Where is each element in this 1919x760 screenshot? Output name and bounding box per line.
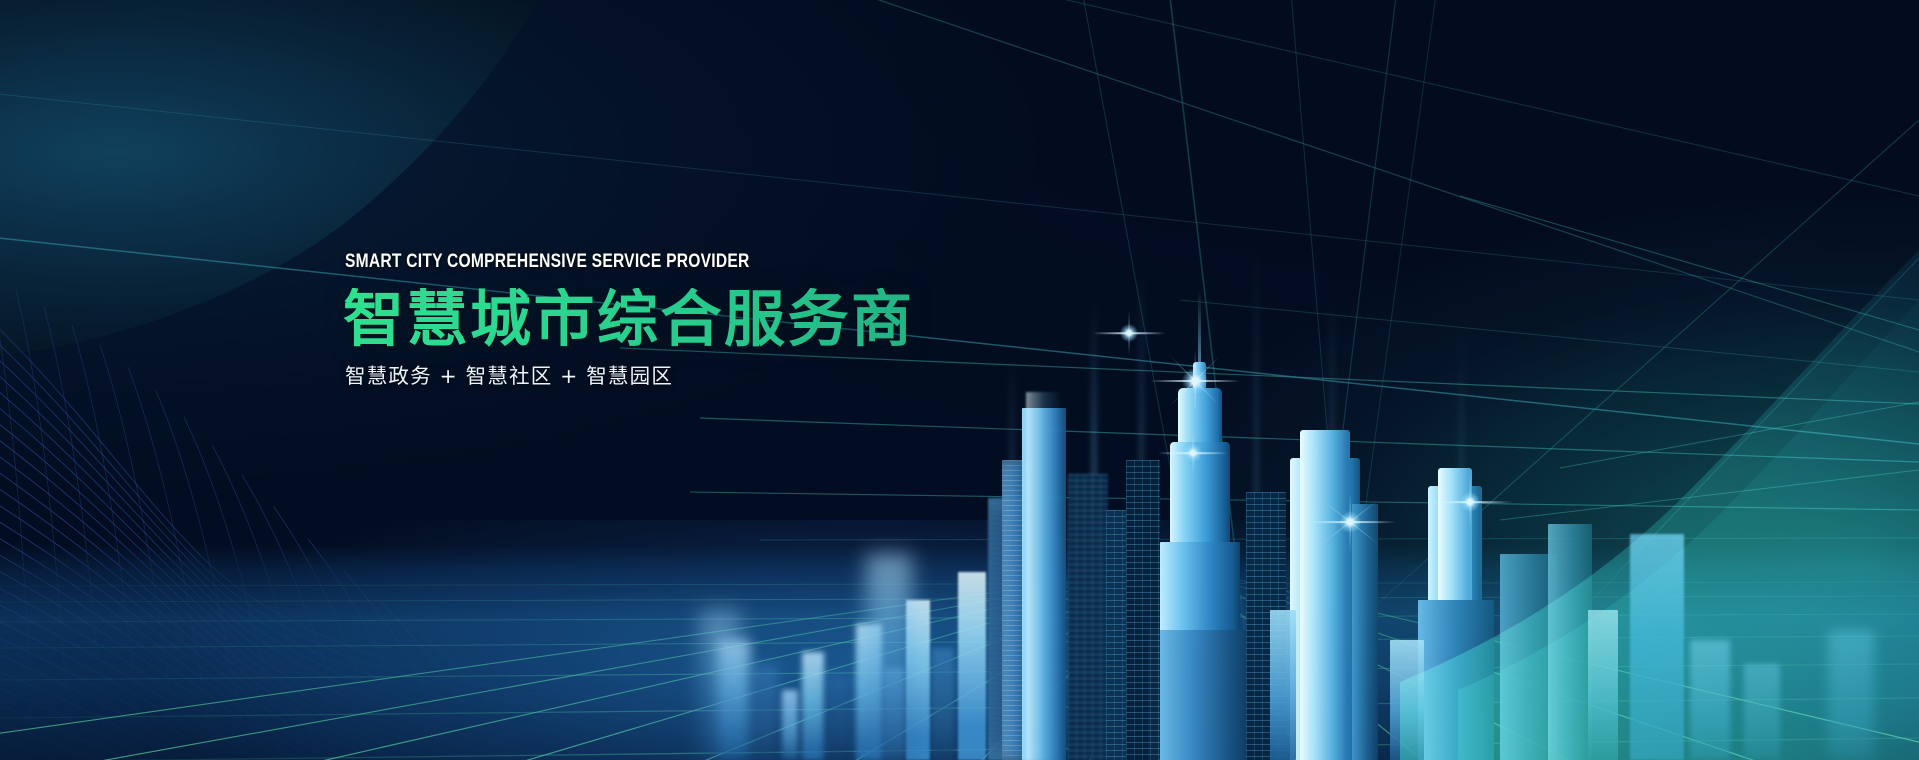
building-foreground-blur [866, 554, 912, 760]
building-foreground-blur [700, 610, 740, 760]
hero-copy: SMART CITY COMPREHENSIVE SERVICE PROVIDE… [343, 252, 1163, 387]
building-stepped-upper [1300, 430, 1350, 760]
building-right-block [1828, 630, 1874, 760]
building-block [1390, 640, 1424, 760]
building-bar [932, 648, 954, 760]
building-right-cluster [1588, 610, 1618, 760]
smart-city-hero-banner: SMART CITY COMPREHENSIVE SERVICE PROVIDE… [0, 0, 1919, 760]
building-tower-skirt [1148, 630, 1252, 760]
hero-eyebrow: SMART CITY COMPREHENSIVE SERVICE PROVIDE… [345, 252, 999, 272]
building-bar [782, 690, 798, 760]
building-right-block [1690, 640, 1730, 760]
building-stepped-wing [1352, 504, 1378, 760]
hero-headline: 智慧城市综合服务商 [343, 288, 1163, 353]
building-right-block [1744, 664, 1780, 760]
building-bar [752, 664, 778, 760]
building-bar [958, 572, 986, 760]
building-right-tall [1630, 534, 1684, 760]
hero-subline: 智慧政务 + 智慧社区 + 智慧园区 [345, 366, 1163, 387]
building-dark [1126, 460, 1160, 760]
building-right-cluster [1548, 524, 1592, 760]
building-tower-left-cap [1026, 392, 1062, 760]
building-slim-tower-base [1418, 600, 1494, 760]
building-bar [802, 652, 824, 760]
building-bar [826, 674, 850, 760]
building-dark [1068, 474, 1108, 760]
building-block [1270, 610, 1296, 760]
